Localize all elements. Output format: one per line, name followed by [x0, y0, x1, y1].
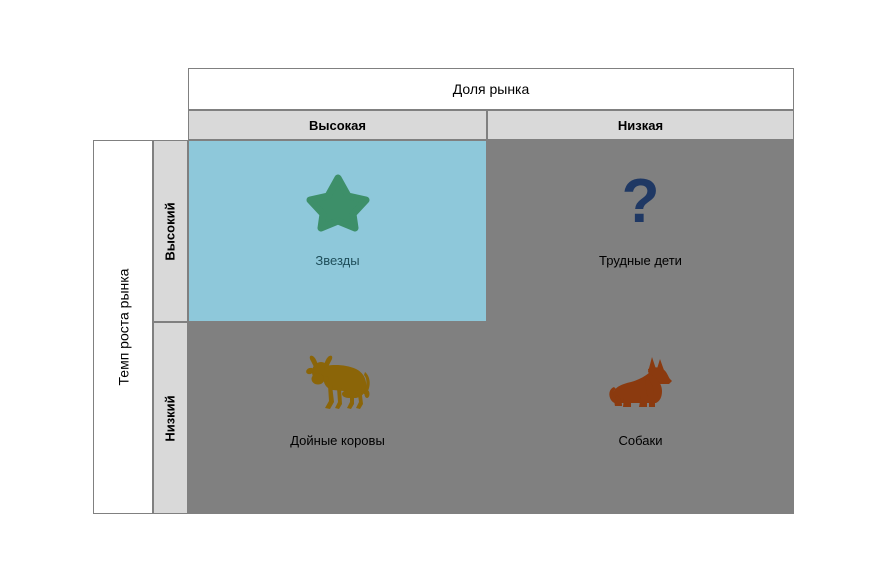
column-axis-title-text: Доля рынка: [453, 81, 530, 97]
row-header-low-growth-label: Низкий: [163, 395, 178, 441]
star-icon: [306, 169, 370, 235]
row-header-high-growth: Высокий: [153, 140, 188, 322]
row-header-low-growth: Низкий: [153, 322, 188, 514]
row-axis-title: Темп роста рынка: [93, 140, 153, 514]
quadrant-question-marks[interactable]: ? Трудные дети: [487, 140, 794, 322]
column-header-high-share: Высокая: [188, 110, 487, 140]
quadrant-dogs[interactable]: Собаки: [487, 322, 794, 514]
row-header-high-growth-label: Высокий: [163, 202, 178, 260]
question-mark-icon: ?: [622, 169, 660, 235]
column-axis-title: Доля рынка: [188, 68, 794, 110]
row-axis-title-text: Темп роста рынка: [115, 269, 131, 386]
quadrant-stars[interactable]: Звезды: [188, 140, 487, 322]
column-header-high-share-label: Высокая: [309, 118, 366, 133]
quadrant-cash-cows[interactable]: Дойные коровы: [188, 322, 487, 514]
dog-icon: [608, 349, 674, 415]
column-header-low-share-label: Низкая: [618, 118, 663, 133]
quadrant-stars-label: Звезды: [315, 253, 359, 268]
question-mark-glyph: ?: [622, 171, 660, 233]
quadrant-cash-cows-label: Дойные коровы: [290, 433, 385, 448]
quadrant-question-marks-label: Трудные дети: [599, 253, 682, 268]
quadrant-dogs-label: Собаки: [619, 433, 663, 448]
bcg-matrix: Доля рынка Высокая Низкая Темп роста рын…: [0, 0, 888, 585]
column-header-low-share: Низкая: [487, 110, 794, 140]
cow-icon: [301, 349, 375, 415]
